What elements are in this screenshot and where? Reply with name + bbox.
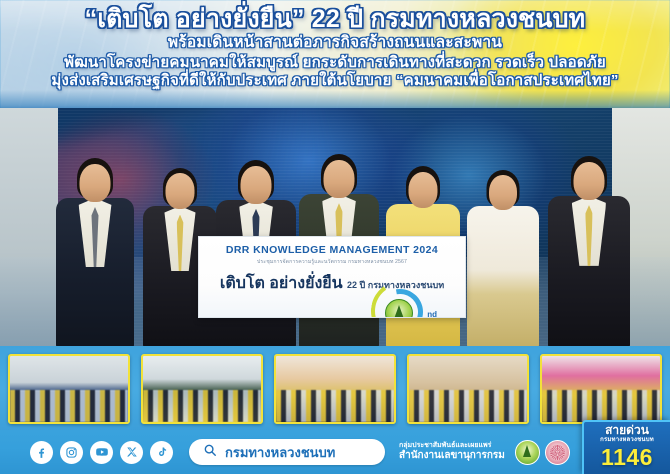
stage-banner-title: DRR KNOWLEDGE MANAGEMENT 2024	[199, 244, 465, 256]
header-banner: “เติบโต อย่างยั่งยืน” 22 ปี กรมทางหลวงชน…	[0, 0, 670, 112]
hotline-label: สายด่วน	[584, 424, 670, 437]
stage-banner: DRR KNOWLEDGE MANAGEMENT 2024 ประชุมการจ…	[198, 236, 466, 318]
person-2-head	[166, 173, 195, 209]
person-7	[544, 140, 634, 348]
person-1-body	[56, 198, 134, 348]
person-1	[52, 142, 138, 348]
headline-tertiary: พัฒนาโครงข่ายคมนาคมให้สมบูรณ์ ยกระดับการ…	[0, 55, 670, 71]
thumbnail-strip	[0, 346, 670, 432]
org-credit-line2: สำนักงานเลขานุการกรม	[399, 450, 505, 462]
headline-quaternary: มุ่งส่งเสริมเศรษฐกิจที่ดีให้กับประเทศ ภา…	[0, 73, 670, 89]
person-4-head	[324, 160, 355, 198]
person-5-head	[409, 172, 438, 208]
thumbnail-2-people	[143, 390, 261, 422]
poster-root: “เติบโต อย่างยั่งยืน” 22 ปี กรมทางหลวงชน…	[0, 0, 670, 474]
x-twitter-icon[interactable]	[120, 441, 143, 464]
youtube-icon[interactable]	[90, 441, 113, 464]
person-1-head	[80, 164, 111, 202]
instagram-icon[interactable]	[60, 441, 83, 464]
person-6	[462, 152, 544, 348]
thumbnail-meeting-room[interactable]	[407, 354, 529, 424]
person-7-head	[574, 162, 605, 200]
stage-banner-logo: nd	[371, 285, 441, 318]
person-6-head	[489, 175, 517, 210]
main-photo: DRR KNOWLEDGE MANAGEMENT 2024 ประชุมการจ…	[0, 108, 670, 348]
search-pill[interactable]: กรมทางหลวงชนบท	[189, 439, 385, 465]
emblem-department-red	[545, 440, 570, 465]
person-6-body	[467, 206, 539, 348]
thumbnail-5-people	[542, 390, 660, 422]
thumbnail-4-people	[409, 390, 527, 422]
headline-secondary: พร้อมเดินหน้าสานต่อภารกิจสร้างถนนและสะพา…	[0, 35, 670, 52]
headline-primary: “เติบโต อย่างยั่งยืน” 22 ปี กรมทางหลวงชน…	[0, 6, 670, 33]
tiktok-icon[interactable]	[150, 441, 173, 464]
header-text-block: “เติบโต อย่างยั่งยืน” 22 ปี กรมทางหลวงชน…	[0, 0, 670, 91]
thumbnail-group-photo-tent[interactable]	[8, 354, 130, 424]
thumbnail-officials-closeup[interactable]	[141, 354, 263, 424]
stage-banner-subtitle: ประชุมการจัดการความรู้และนวัตกรรม กรมทาง…	[199, 258, 465, 266]
hotline-number: 1146	[584, 445, 670, 469]
stage-banner-headline-main: เติบโต อย่างยั่งยืน	[220, 275, 343, 292]
thumbnail-3-people	[276, 390, 394, 422]
emblem-ministry-green	[515, 440, 540, 465]
search-icon	[203, 443, 217, 462]
footer-bar: กรมทางหลวงชนบท กลุ่มประชาสัมพันธ์และเผยแ…	[0, 430, 670, 474]
thumbnail-1-people	[10, 390, 128, 422]
facebook-icon[interactable]	[30, 441, 53, 464]
person-3-head	[241, 166, 272, 204]
emblem-group	[515, 440, 570, 465]
thumbnail-award-ceremony[interactable]	[540, 354, 662, 424]
logo-nd-mark: nd	[427, 310, 437, 318]
hotline-badge[interactable]: สายด่วน กรมทางหลวงชนบท 1146	[582, 420, 670, 474]
social-icon-group	[30, 441, 173, 464]
person-7-body	[548, 196, 630, 348]
org-credit: กลุ่มประชาสัมพันธ์และเผยแพร่ สำนักงานเลข…	[399, 442, 505, 462]
hotline-org: กรมทางหลวงชนบท	[584, 437, 670, 444]
search-text: กรมทางหลวงชนบท	[225, 442, 335, 463]
thumbnail-staff-lineup-hall[interactable]	[274, 354, 396, 424]
